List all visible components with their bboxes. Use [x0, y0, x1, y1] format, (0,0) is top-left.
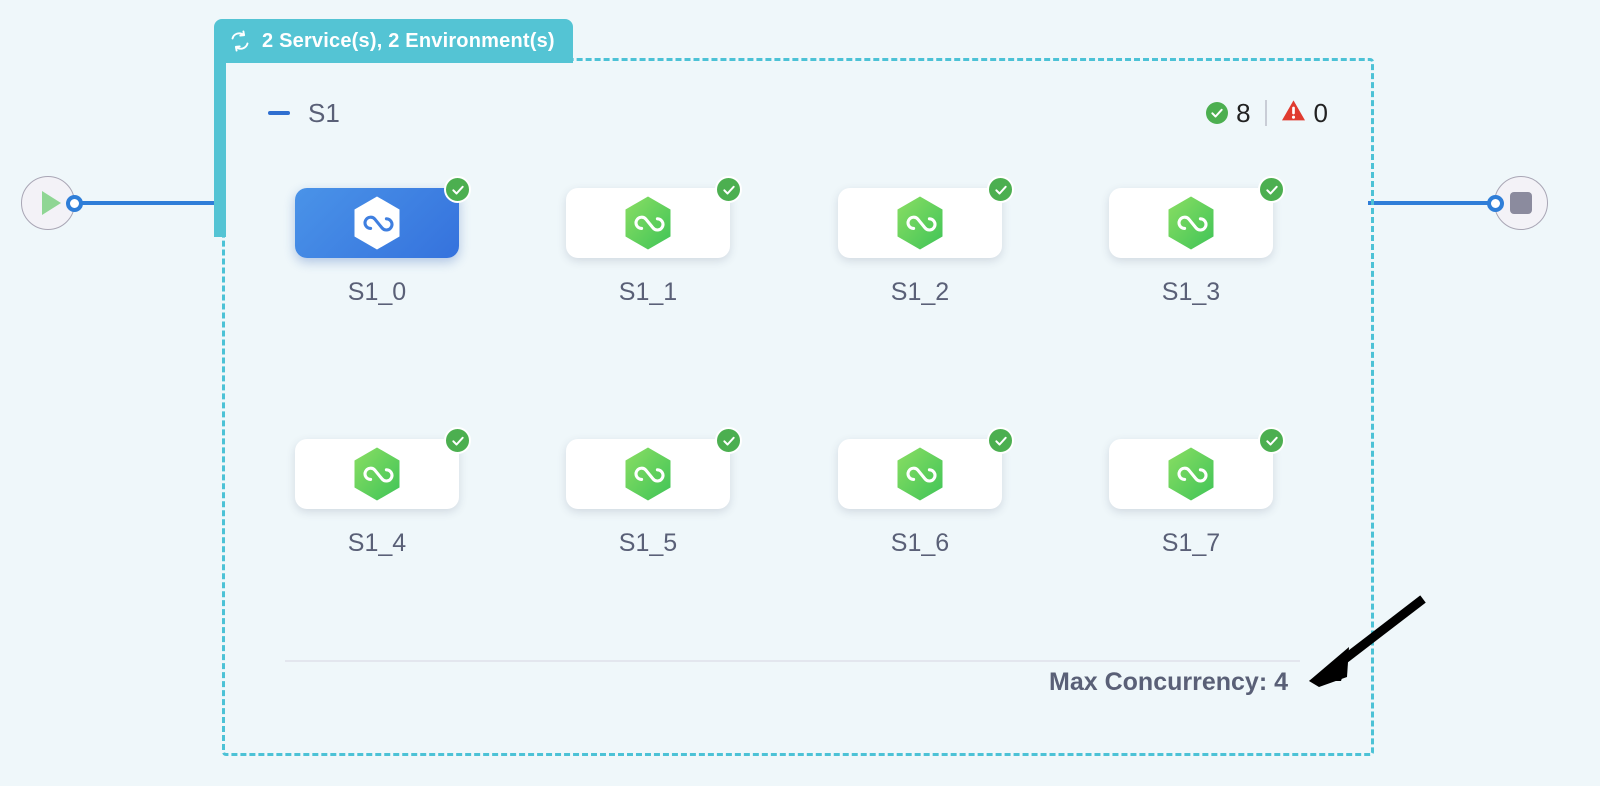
- check-circle-icon: [1258, 176, 1285, 203]
- check-circle-icon: [444, 427, 471, 454]
- stop-square-icon: [1510, 192, 1532, 214]
- node-label: S1_0: [295, 278, 459, 307]
- hexagon-infinity-icon: [622, 446, 674, 502]
- node-card[interactable]: [1109, 188, 1273, 258]
- group-label-chip[interactable]: 2 Service(s), 2 Environment(s): [214, 19, 573, 63]
- check-circle-icon: [715, 427, 742, 454]
- node-s1_5: S1_5: [566, 439, 730, 558]
- minus-collapse-icon[interactable]: [268, 111, 290, 115]
- group-status-cluster: 8 0: [1206, 98, 1328, 129]
- check-circle-icon: [1206, 102, 1228, 124]
- node-label: S1_1: [566, 278, 730, 307]
- node-label: S1_6: [838, 529, 1002, 558]
- check-circle-icon: [987, 427, 1014, 454]
- node-label: S1_5: [566, 529, 730, 558]
- node-s1_2: S1_2: [838, 188, 1002, 307]
- node-s1_0: S1_0: [295, 188, 459, 307]
- node-card[interactable]: [838, 439, 1002, 509]
- node-card[interactable]: [566, 188, 730, 258]
- group-container[interactable]: [222, 58, 1374, 756]
- hexagon-infinity-icon: [1165, 446, 1217, 502]
- check-circle-icon: [444, 176, 471, 203]
- max-concurrency-label: Max Concurrency: 4: [900, 668, 1288, 697]
- group-label-text: 2 Service(s), 2 Environment(s): [262, 30, 555, 53]
- node-label: S1_7: [1109, 529, 1273, 558]
- node-label: S1_2: [838, 278, 1002, 307]
- hexagon-infinity-icon: [894, 195, 946, 251]
- footer-divider: [285, 660, 1300, 662]
- check-circle-icon: [715, 176, 742, 203]
- play-icon: [42, 191, 61, 215]
- warning-count: 0: [1314, 98, 1328, 129]
- node-card[interactable]: [838, 188, 1002, 258]
- edge-start-to-group[interactable]: [79, 201, 224, 205]
- success-count: 8: [1236, 98, 1250, 129]
- hexagon-infinity-icon: [351, 195, 403, 251]
- status-warning: 0: [1281, 98, 1328, 129]
- node-s1_7: S1_7: [1109, 439, 1273, 558]
- status-success: 8: [1206, 98, 1250, 129]
- node-s1_1: S1_1: [566, 188, 730, 307]
- loop-sync-icon: [228, 29, 252, 53]
- check-circle-icon: [1258, 427, 1285, 454]
- node-card[interactable]: [295, 439, 459, 509]
- warning-triangle-icon: [1281, 99, 1306, 127]
- node-label: S1_3: [1109, 278, 1273, 307]
- check-circle-icon: [987, 176, 1014, 203]
- node-s1_3: S1_3: [1109, 188, 1273, 307]
- group-header: S1 8 0: [268, 92, 1328, 134]
- hexagon-infinity-icon: [622, 195, 674, 251]
- status-divider: [1265, 100, 1267, 126]
- hexagon-infinity-icon: [1165, 195, 1217, 251]
- node-s1_4: S1_4: [295, 439, 459, 558]
- node-card[interactable]: [566, 439, 730, 509]
- group-title: S1: [308, 98, 340, 129]
- start-node-output-handle[interactable]: [66, 195, 83, 212]
- hexagon-infinity-icon: [351, 446, 403, 502]
- node-card[interactable]: [1109, 439, 1273, 509]
- node-card[interactable]: [295, 188, 459, 258]
- end-node-input-handle[interactable]: [1487, 195, 1504, 212]
- workflow-canvas: 2 Service(s), 2 Environment(s) S1 8: [0, 0, 1600, 786]
- node-s1_6: S1_6: [838, 439, 1002, 558]
- hexagon-infinity-icon: [894, 446, 946, 502]
- node-label: S1_4: [295, 529, 459, 558]
- group-left-handle-bar[interactable]: [214, 55, 226, 237]
- edge-group-to-end[interactable]: [1368, 201, 1496, 205]
